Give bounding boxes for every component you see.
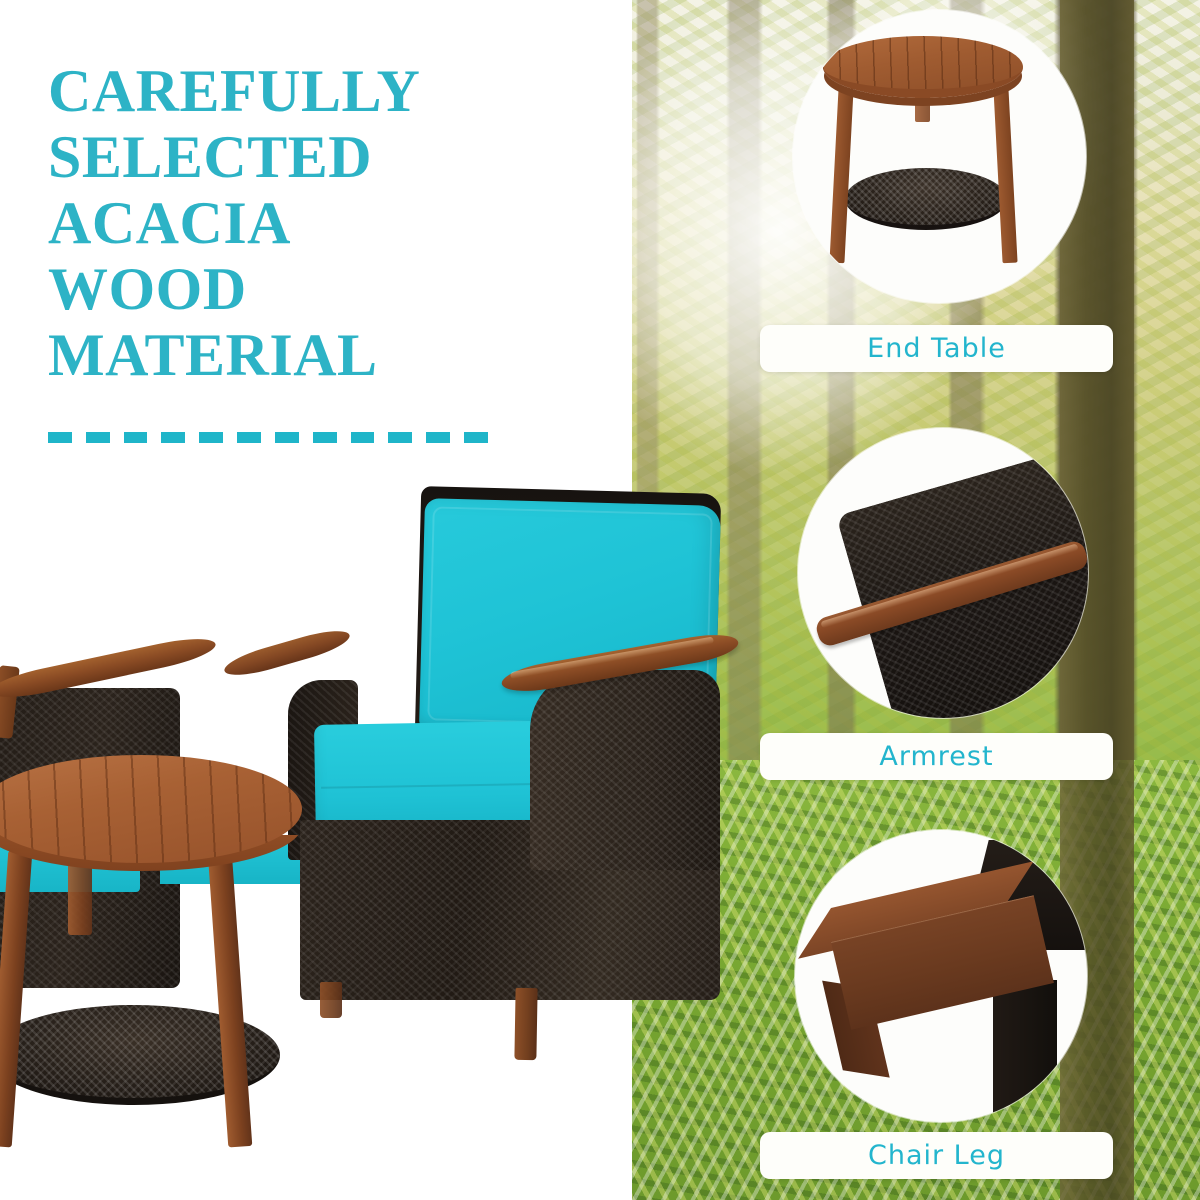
divider-dash bbox=[388, 432, 412, 443]
divider-dash bbox=[199, 432, 223, 443]
divider-dash bbox=[351, 432, 375, 443]
headline-line-5: MATERIAL bbox=[48, 322, 518, 388]
chair-wood-leg-front bbox=[514, 988, 537, 1060]
detail-circle-end-table bbox=[793, 10, 1086, 303]
callout-label-end-table: End Table bbox=[760, 325, 1113, 372]
product-infographic: CAREFULLY SELECTED ACACIA WOOD MATERIAL bbox=[0, 0, 1200, 1200]
chair-right-arm-panel bbox=[530, 670, 720, 870]
callout-label-text: Armrest bbox=[879, 741, 993, 772]
detail-circle-armrest bbox=[798, 428, 1088, 718]
end-table-wicker-shelf-icon bbox=[845, 168, 1007, 230]
divider-dash bbox=[86, 432, 110, 443]
callout-label-text: Chair Leg bbox=[868, 1140, 1005, 1171]
table-leg-left bbox=[0, 851, 32, 1148]
headline-line-3: ACACIA bbox=[48, 190, 518, 256]
headline-line-4: WOOD bbox=[48, 256, 518, 322]
end-table-top-icon bbox=[823, 36, 1023, 98]
chair-leg-wicker-side-icon bbox=[993, 980, 1057, 1122]
divider-dash bbox=[313, 432, 337, 443]
divider-dash bbox=[161, 432, 185, 443]
divider-dash bbox=[237, 432, 261, 443]
divider-dash bbox=[464, 432, 488, 443]
callout-label-chair-leg: Chair Leg bbox=[760, 1132, 1113, 1179]
page-title: CAREFULLY SELECTED ACACIA WOOD MATERIAL bbox=[48, 58, 518, 388]
divider-dash bbox=[275, 432, 299, 443]
chair-wood-leg-back bbox=[320, 982, 342, 1018]
chair-left-wood-armrest bbox=[221, 625, 352, 682]
headline-line-2: SELECTED bbox=[48, 124, 518, 190]
foreground-end-table bbox=[0, 755, 320, 1175]
table-leg-right bbox=[208, 851, 253, 1148]
headline-line-1: CAREFULLY bbox=[48, 58, 518, 124]
callout-label-armrest: Armrest bbox=[760, 733, 1113, 780]
divider-dash bbox=[124, 432, 148, 443]
callout-label-text: End Table bbox=[867, 333, 1006, 364]
detail-circle-chair-leg bbox=[795, 830, 1087, 1122]
divider-dash bbox=[48, 432, 72, 443]
end-table-leg-left-icon bbox=[829, 88, 853, 264]
dashed-divider bbox=[48, 432, 488, 443]
divider-dash bbox=[426, 432, 450, 443]
end-table-leg-right-icon bbox=[993, 88, 1017, 264]
